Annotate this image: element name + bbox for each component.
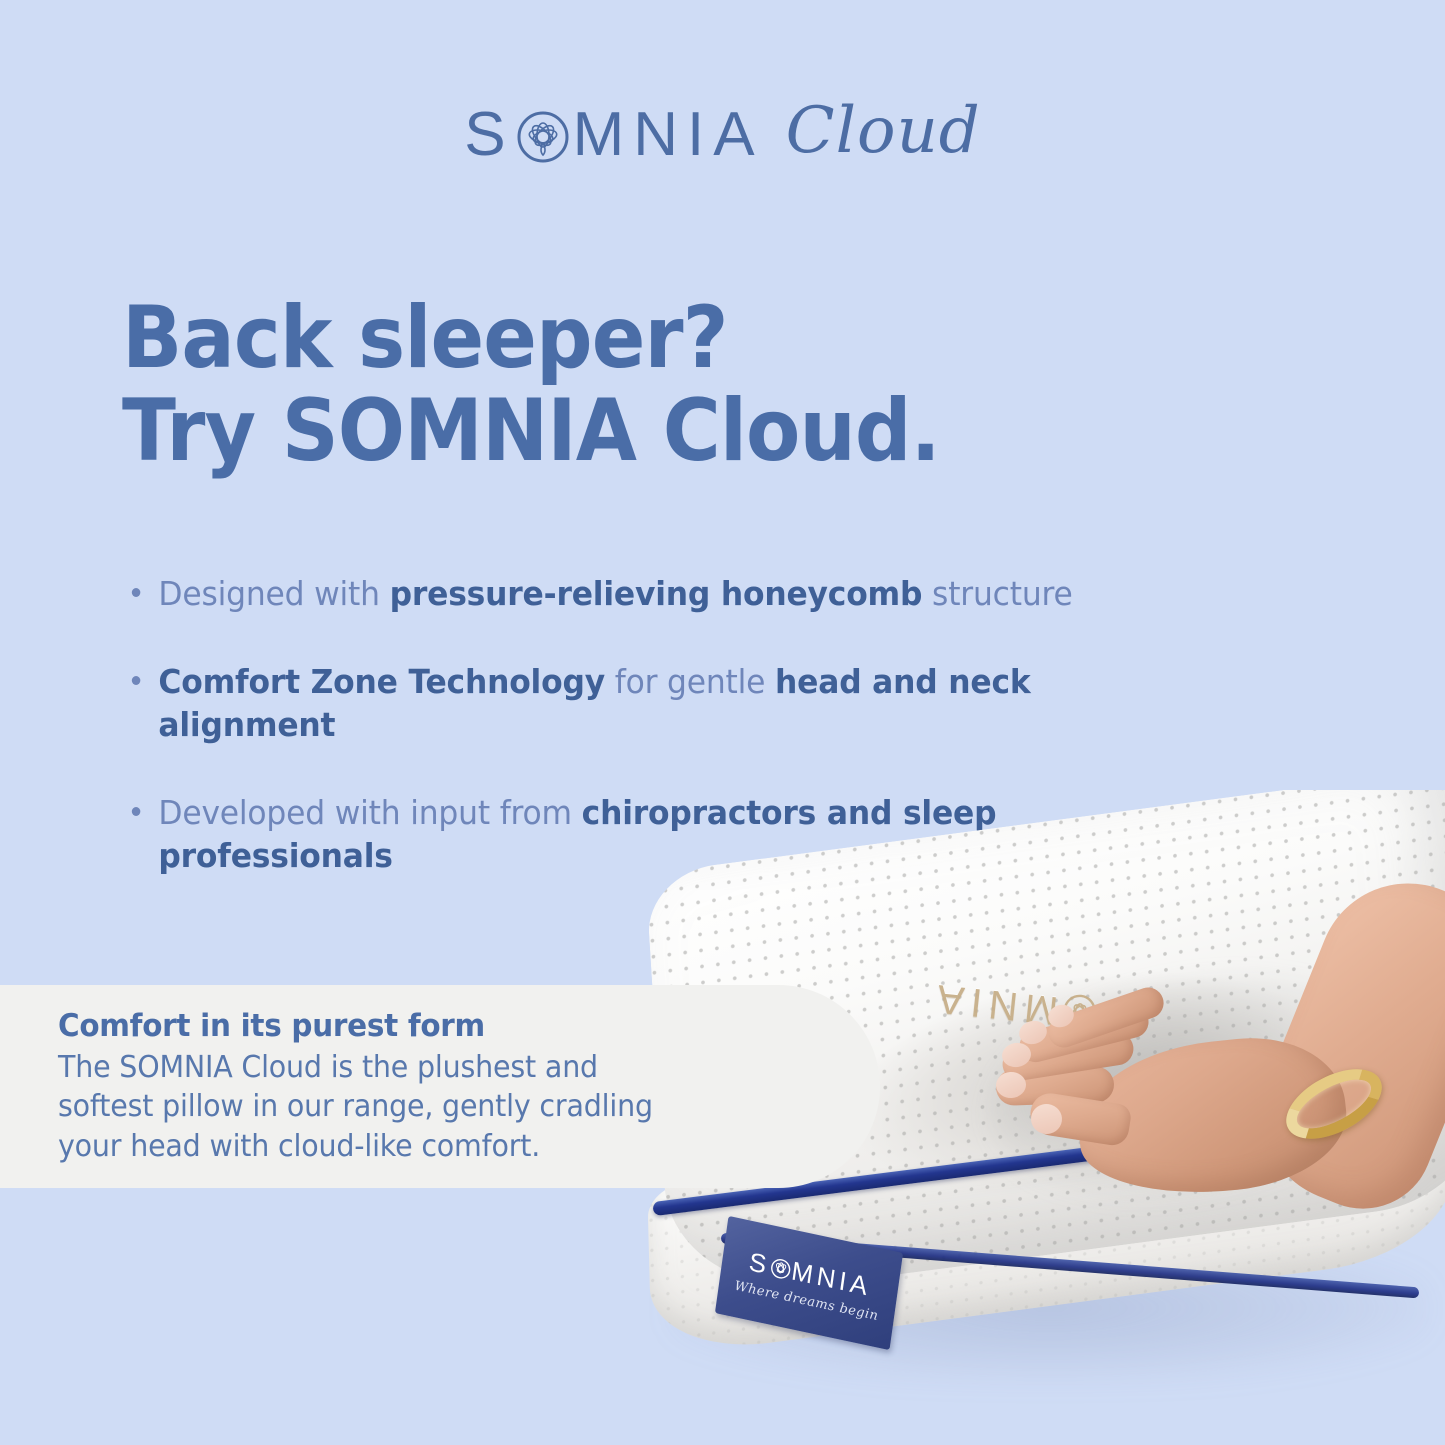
bullet-dot-icon (132, 676, 141, 685)
logo-letter-s: S (464, 104, 514, 166)
brand-logo: S MNIA Cloud (0, 95, 1445, 175)
ad-canvas: S MNIA Cloud Back sleeper? Try SOMNIA Cl… (0, 0, 1445, 1445)
lotus-in-circle-icon (515, 109, 571, 165)
logo-letters-mnia: MNIA (573, 104, 764, 166)
callout-body: The SOMNIA Cloud is the plushest and sof… (58, 1048, 723, 1167)
logo-script-cloud: Cloud (786, 99, 981, 163)
hand-pressing-pillow (990, 998, 1420, 1258)
bullet-text-1: Comfort Zone Technology for gentle head … (158, 662, 1030, 745)
callout-body-line-1: The SOMNIA Cloud is the plushest and (58, 1048, 723, 1088)
logo-wordmark: S MNIA (464, 104, 763, 166)
callout-body-line-2: softest pillow in our range, gently crad… (58, 1087, 723, 1127)
list-item: Comfort Zone Technology for gentle head … (128, 660, 1078, 747)
bullet-dot-icon (132, 588, 141, 597)
headline-line-2: Try SOMNIA Cloud. (122, 385, 1079, 478)
headline-line-1: Back sleeper? (122, 292, 1079, 385)
page-title: Back sleeper? Try SOMNIA Cloud. (122, 292, 1079, 478)
callout-title: Comfort in its purest form (58, 1007, 839, 1046)
bullet-dot-icon (132, 807, 141, 816)
comfort-callout-card: Comfort in its purest form The SOMNIA Cl… (0, 985, 880, 1188)
callout-body-line-3: your head with cloud-like comfort. (58, 1127, 723, 1167)
bullet-text-0: Designed with pressure-relieving honeyco… (158, 574, 1072, 613)
list-item: Designed with pressure-relieving honeyco… (128, 572, 1078, 616)
tag-lotus-icon (769, 1256, 794, 1282)
